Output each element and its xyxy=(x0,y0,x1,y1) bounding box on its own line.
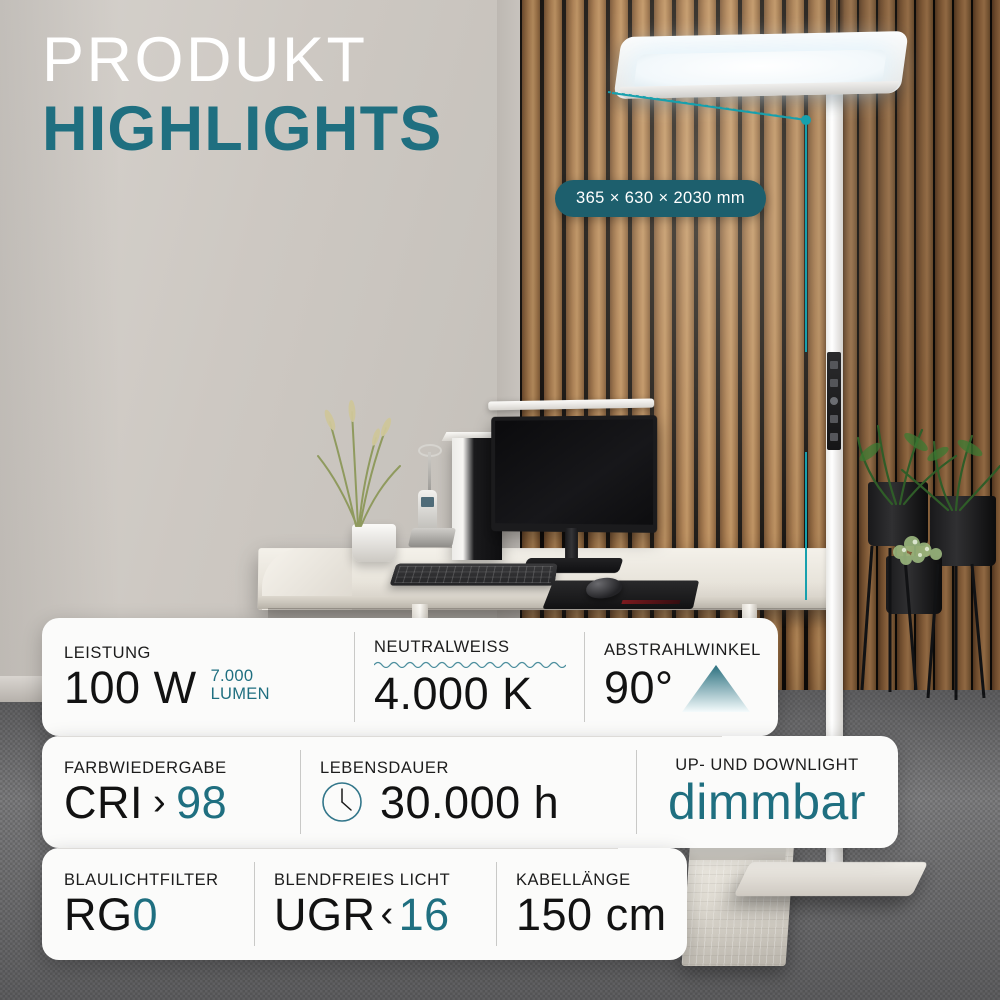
spec-value: 4.000 K xyxy=(374,671,564,717)
spec-caption: BLAULICHTFILTER xyxy=(64,871,234,890)
spec-caption: BLENDFREIES LICHT xyxy=(274,871,476,890)
spec-value: 150 cm xyxy=(516,892,667,938)
small-flowering-plant xyxy=(884,524,954,568)
white-plant-pot xyxy=(352,524,396,562)
spec-value: 100 W xyxy=(64,665,197,711)
product-highlight-image: PRODUKT HIGHLIGHTS 365 × 630 × 2030 mm L… xyxy=(0,0,1000,1000)
spec-cell-blaulichtfilter: BLAULICHTFILTER RG 0 xyxy=(42,848,254,960)
lamp-power-button-icon[interactable] xyxy=(830,397,838,405)
lamp-button-sensor-icon[interactable] xyxy=(830,433,838,441)
spec-value: UGR ‹ 16 xyxy=(274,892,476,938)
phone-display xyxy=(421,497,434,507)
spec-cell-farbwiedergabe: FARBWIEDERGABE CRI › 98 xyxy=(42,736,300,848)
rg-prefix: RG xyxy=(64,892,133,938)
spec-value: CRI › 98 xyxy=(64,780,280,826)
monitor-stand-neck xyxy=(565,528,578,562)
spec-value-text: 30.000 h xyxy=(380,780,559,826)
lumen-label: LUMEN xyxy=(211,685,270,703)
floor-lamp-base xyxy=(734,862,929,896)
wavy-underline-icon xyxy=(374,660,566,668)
lumen-number: 7.000 xyxy=(211,667,270,685)
cri-operator: › xyxy=(151,783,168,822)
dimension-badge: 365 × 630 × 2030 mm xyxy=(555,180,766,217)
spec-caption: LEISTUNG xyxy=(64,644,334,663)
spec-cell-blendfreies-licht: BLENDFREIES LICHT UGR ‹ 16 xyxy=(254,848,496,960)
fern-foliage xyxy=(852,408,1000,518)
ugr-prefix: UGR xyxy=(274,892,376,938)
spec-caption: NEUTRALWEISS xyxy=(374,638,564,657)
lamp-button-up-icon[interactable] xyxy=(830,361,838,369)
spec-cell-kabellaenge: KABELLÄNGE 150 cm xyxy=(496,848,687,960)
spec-caption: LEBENSDAUER xyxy=(320,759,616,778)
spec-value: RG 0 xyxy=(64,892,234,938)
beam-triangle-icon xyxy=(680,662,752,714)
cri-prefix: CRI xyxy=(64,780,143,826)
spec-card-row-2: FARBWIEDERGABE CRI › 98 LEBENSDAUER 30.0… xyxy=(42,736,898,848)
monitor-screen xyxy=(495,419,653,524)
spec-card-row-1: LEISTUNG 100 W 7.000 LUMEN NEUTRALWEISS … xyxy=(42,618,778,736)
spec-caption: FARBWIEDERGABE xyxy=(64,759,280,778)
ugr-value: 16 xyxy=(399,892,450,938)
spec-caption: ABSTRAHLWINKEL xyxy=(604,641,758,660)
headline-line-1: PRODUKT xyxy=(42,28,443,94)
spec-cell-neutralweiss: NEUTRALWEISS 4.000 K xyxy=(354,618,584,736)
dimmbar-value: dimmbar xyxy=(668,777,866,828)
phone-antenna xyxy=(428,452,431,492)
ornamental-grass xyxy=(300,398,410,528)
mouse-pad-accent-stripe xyxy=(621,600,680,604)
phone-base-station xyxy=(408,528,456,547)
page-title: PRODUKT HIGHLIGHTS xyxy=(42,28,443,164)
spec-value: 90° xyxy=(604,665,674,711)
lamp-control-panel[interactable] xyxy=(827,352,841,450)
rg-value: 0 xyxy=(133,892,159,938)
card-divider-1 xyxy=(58,736,722,737)
card-divider-2 xyxy=(58,848,618,849)
spec-cell-leistung: LEISTUNG 100 W 7.000 LUMEN xyxy=(42,618,354,736)
cri-value: 98 xyxy=(176,780,227,826)
ugr-operator: ‹ xyxy=(379,895,396,934)
spec-cell-updownlight: UP- UND DOWNLIGHT dimmbar xyxy=(636,736,898,848)
headline-line-2: HIGHLIGHTS xyxy=(42,94,443,165)
spec-sub-lumen: 7.000 LUMEN xyxy=(211,667,270,711)
keyboard xyxy=(389,564,557,586)
spec-card-row-3: BLAULICHTFILTER RG 0 BLENDFREIES LICHT U… xyxy=(42,848,687,960)
spec-caption: KABELLÄNGE xyxy=(516,871,667,890)
lamp-button-down-icon[interactable] xyxy=(830,415,838,423)
clock-icon xyxy=(320,780,364,824)
spec-cell-abstrahlwinkel: ABSTRAHLWINKEL 90° xyxy=(584,618,778,736)
spec-cell-lebensdauer: LEBENSDAUER 30.000 h xyxy=(300,736,636,848)
lamp-button-scene-icon[interactable] xyxy=(830,379,838,387)
spec-caption: UP- UND DOWNLIGHT xyxy=(675,756,859,775)
